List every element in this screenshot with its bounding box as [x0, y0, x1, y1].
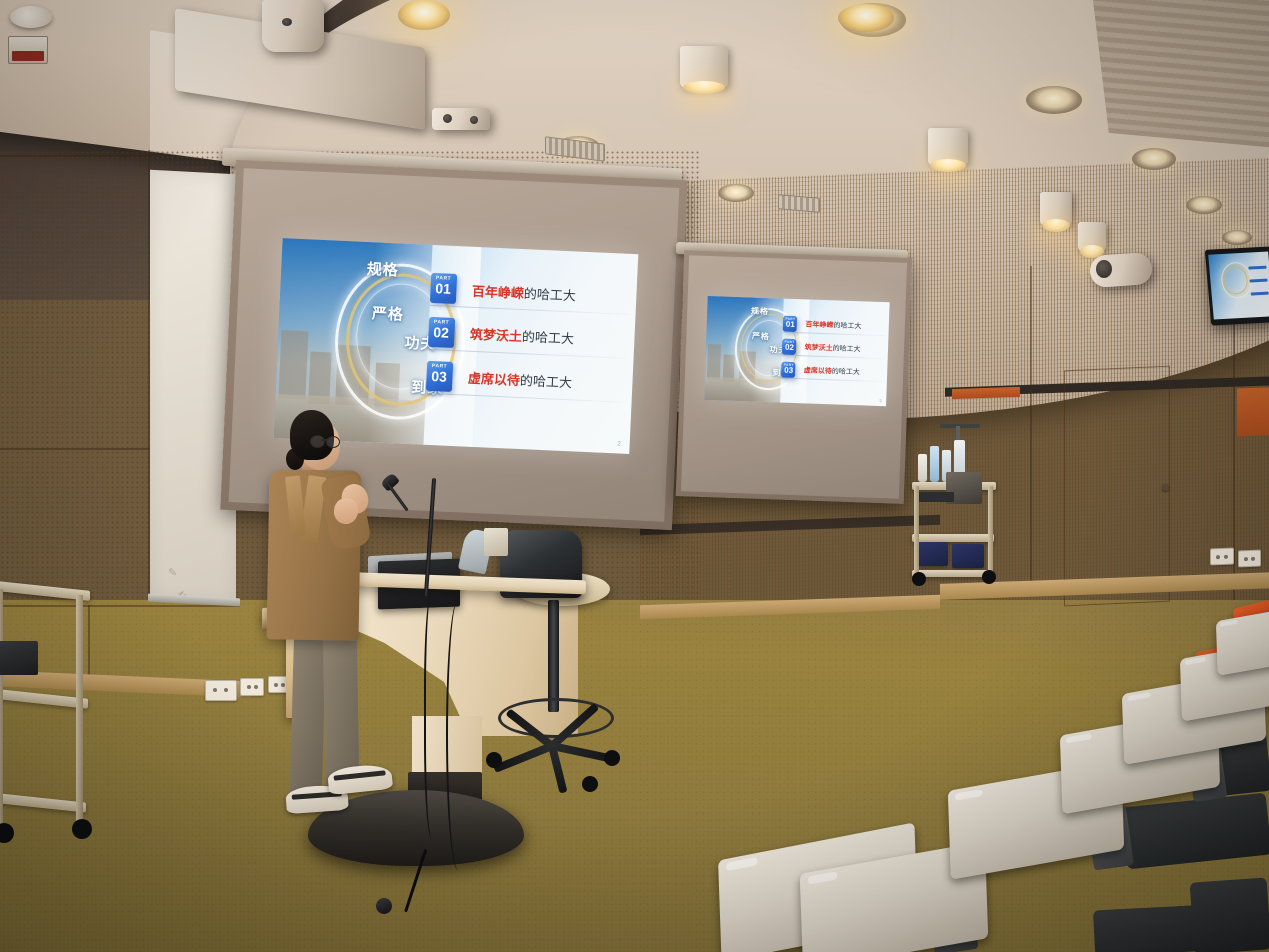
glasses-lens-left: [310, 435, 325, 448]
slide-agenda-row: PART 01 百年峥嵘的哈工大: [783, 315, 885, 335]
slide-agenda-row: PART 03 虚席以待的哈工大: [781, 361, 883, 381]
cart-shelf-mid: [912, 534, 994, 542]
whiteboard-panel: [150, 170, 236, 605]
cart-caster-a: [0, 823, 14, 843]
ceiling-speaker-small-a: [432, 108, 490, 130]
right-wall-orange-accent-b: [1237, 387, 1269, 436]
cart-shelf-bottom: [0, 791, 86, 812]
slide-part-number: 03: [426, 369, 453, 384]
wall-monitor-screen: [1208, 251, 1269, 319]
wall-outlet-left-b[interactable]: [240, 678, 264, 696]
slide-part-number: 01: [783, 320, 797, 328]
wall-outlet-right-b[interactable]: [1238, 550, 1261, 568]
blue-storage-box-b[interactable]: [952, 544, 984, 568]
door-knob-icon[interactable]: [1162, 484, 1169, 491]
stool-caster-b: [486, 752, 502, 768]
seat-base-row-d: [1190, 877, 1269, 952]
podium-paper-tray: [484, 528, 508, 556]
cart-leg-b: [988, 486, 993, 574]
slide-part-label: PART: [783, 316, 797, 320]
wall-mounted-monitor: [1205, 246, 1269, 325]
slide-page-number: 2: [617, 442, 621, 448]
slide-part-number: 02: [428, 325, 455, 340]
slide-agenda-tail: 的哈工大: [520, 373, 573, 390]
slide-calligraphy-line2: 严格: [752, 332, 770, 341]
slide-agenda-underline: [427, 349, 626, 359]
slide-agenda-highlight: 筑梦沃土: [805, 344, 833, 352]
slide-agenda-underline: [425, 393, 624, 403]
cart-device: [916, 492, 954, 502]
presenter-leg-left: [290, 620, 327, 803]
slide-agenda-tail: 的哈工大: [833, 345, 861, 353]
slide-agenda-text: 筑梦沃土的哈工大: [804, 342, 860, 354]
slide-part-number: 02: [782, 343, 796, 351]
slide-agenda-row: PART 03 虚席以待的哈工大: [425, 361, 626, 400]
wall-seam-c: [0, 448, 150, 450]
glasses-lens-right: [326, 436, 340, 448]
slide-part-badge: PART 02: [782, 338, 797, 354]
projection-screen-right: 规格 严格 功夫 到家 PART 01 百年峥嵘的哈工大: [676, 250, 912, 504]
water-bottle-a[interactable]: [918, 454, 927, 482]
slide-agenda-row: PART 01 百年峥嵘的哈工大: [429, 273, 630, 312]
slide-part-badge: PART 03: [425, 361, 452, 392]
slide-part-badge: PART 03: [781, 361, 796, 377]
slide-agenda-tail: 的哈工大: [522, 330, 575, 347]
slide-agenda-row: PART 02 筑梦沃土的哈工大: [427, 317, 628, 356]
podium-cable-a: [424, 590, 444, 840]
slide-agenda-tail: 的哈工大: [833, 322, 861, 330]
slide-part-label: PART: [428, 319, 454, 326]
utility-cart-right[interactable]: [912, 430, 1010, 590]
slide-part-label: PART: [430, 275, 456, 282]
slide-agenda-highlight: 虚席以待: [804, 367, 832, 375]
spotlight-icon-4: [1078, 222, 1106, 252]
slide-part-label: PART: [782, 362, 796, 366]
draft-stool-post: [548, 600, 559, 712]
monitor-agenda-bar-2: [1249, 279, 1267, 283]
cart-shelf-mid: [0, 687, 88, 708]
cart-handle[interactable]: [940, 424, 980, 428]
slide-part-label: PART: [783, 339, 797, 343]
slide-agenda-highlight: 百年峥嵘: [805, 321, 833, 329]
slide-agenda-text: 虚席以待的哈工大: [468, 368, 573, 392]
cart-equipment-box: [0, 641, 38, 675]
slide-agenda-tail: 的哈工大: [524, 286, 577, 303]
slide-agenda-text: 筑梦沃土的哈工大: [470, 324, 575, 348]
slide-part-badge: PART 01: [429, 273, 456, 304]
stool-caster-a: [604, 750, 620, 766]
presenter-hair: [290, 410, 334, 460]
projector-lens-left: [282, 18, 292, 26]
cart-leg-b: [76, 595, 83, 827]
downlight-icon-8: [1186, 196, 1222, 214]
cart-caster-b: [982, 570, 996, 584]
slide-agenda-highlight: 虚席以待: [468, 371, 521, 388]
monitor-agenda-bar-1: [1248, 266, 1266, 270]
slide-agenda-list: PART 01 百年峥嵘的哈工大 PART 02: [781, 315, 885, 388]
slide-calligraphy-line1: 规格: [366, 262, 399, 279]
floor-microphone-head: [376, 898, 392, 914]
slide-agenda-highlight: 筑梦沃土: [470, 327, 523, 344]
slide-agenda-list: PART 01 百年峥嵘的哈工大 PART 02: [425, 273, 630, 414]
slide-part-label: PART: [426, 363, 452, 370]
spotlight-icon-1: [680, 46, 728, 88]
lecture-hall-photo: ✎ ✍︎: [0, 0, 1269, 952]
downlight-icon-4: [718, 184, 754, 202]
speaker-driver-a: [443, 114, 452, 123]
water-bottle-b[interactable]: [930, 446, 939, 482]
fire-alarm-call-point: [8, 36, 48, 64]
wall-outlet-left-a[interactable]: [205, 680, 237, 701]
equipment-cart-left[interactable]: [0, 575, 100, 845]
slide-agenda-tail: 的哈工大: [832, 368, 860, 376]
stool-caster-c: [582, 776, 598, 792]
cart-caster-a: [912, 572, 926, 586]
glasses-bridge: [322, 439, 327, 441]
blue-storage-box-a[interactable]: [918, 542, 948, 566]
slide-part-number: 01: [430, 281, 457, 296]
slide-agenda-underline: [783, 332, 885, 337]
cart-leg-a: [0, 589, 3, 829]
whiteboard-marking-a: ✎: [168, 566, 177, 579]
monitor-agenda-bar-3: [1250, 292, 1268, 296]
slide-part-number: 03: [782, 366, 796, 374]
downlight-icon-10: [838, 4, 894, 32]
slide-agenda-underline: [429, 305, 628, 315]
wall-seam-a: [0, 155, 150, 157]
downlight-icon-6: [1026, 86, 1082, 114]
downlight-icon-1: [398, 0, 450, 30]
right-wall-seam-a: [1030, 266, 1032, 596]
slide-agenda-highlight: 百年峥嵘: [472, 283, 525, 300]
slide-part-badge: PART 01: [783, 315, 798, 331]
slide-agenda-underline: [781, 378, 883, 383]
podium-cable-b: [446, 600, 470, 870]
slide-calligraphy-line2: 严格: [372, 306, 405, 323]
ceiling-projector-mount-left: [262, 0, 324, 52]
right-wall-door[interactable]: [1064, 366, 1170, 607]
slide-agenda-row: PART 02 筑梦沃土的哈工大: [782, 338, 884, 358]
slide-right: 规格 严格 功夫 到家 PART 01 百年峥嵘的哈工大: [704, 296, 890, 406]
wall-outlet-right-a[interactable]: [1210, 548, 1234, 566]
spotlight-icon-3: [1040, 192, 1072, 226]
projection-screen-right-surface: 规格 严格 功夫 到家 PART 01 百年峥嵘的哈工大: [681, 255, 907, 498]
slide-agenda-text: 百年峥嵘的哈工大: [472, 280, 577, 304]
ceiling-air-grille: [1091, 0, 1269, 150]
slide-agenda-text: 虚席以待的哈工大: [804, 365, 860, 377]
speaker-driver-b: [470, 116, 478, 124]
slide-calligraphy-line1: 规格: [751, 307, 769, 316]
slide-page-number: 2: [879, 398, 881, 403]
downlight-icon-9: [1222, 230, 1252, 245]
cart-leg-a: [914, 486, 919, 574]
slide-agenda-underline: [782, 355, 884, 360]
smoke-detector-icon: [10, 6, 52, 28]
projector-lens-right: [1096, 260, 1112, 278]
slide-part-badge: PART 02: [427, 317, 454, 348]
downlight-icon-7: [1132, 148, 1176, 170]
cart-caster-b: [72, 819, 92, 839]
slide-agenda-text: 百年峥嵘的哈工大: [805, 319, 861, 331]
spotlight-icon-2: [928, 128, 968, 166]
